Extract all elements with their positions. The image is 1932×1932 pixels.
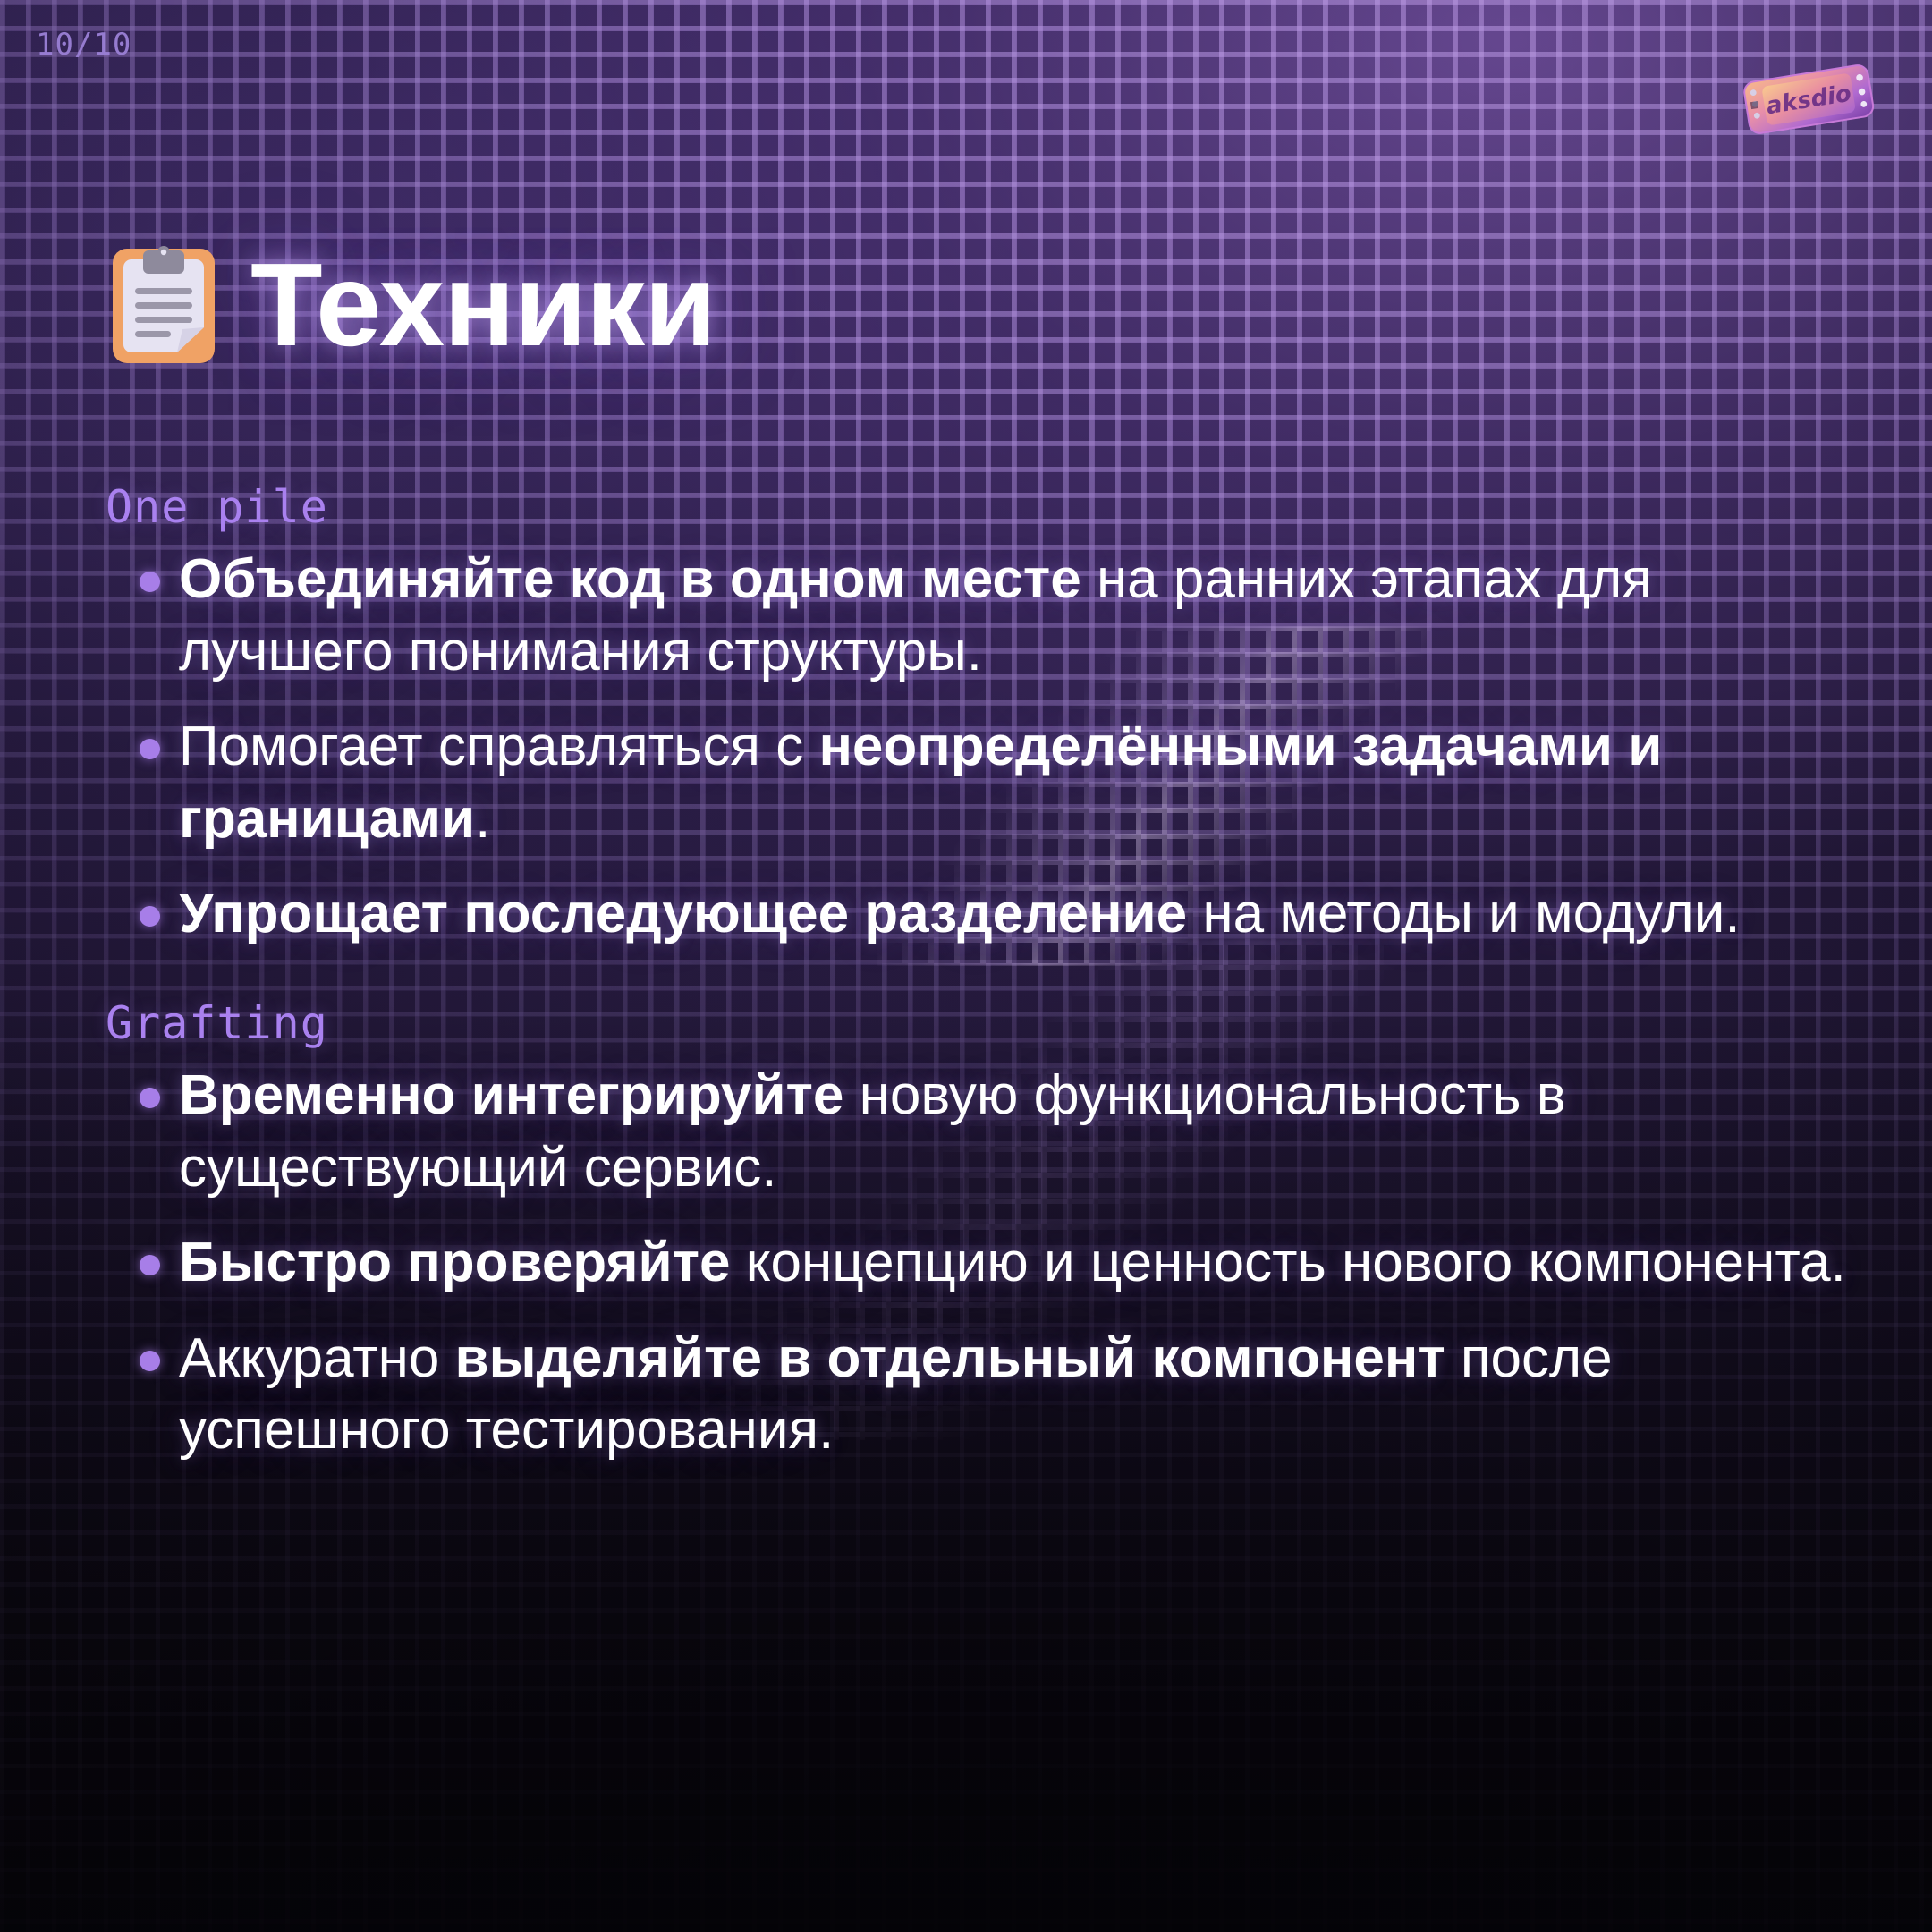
bullet-dot-icon	[140, 1088, 160, 1108]
slide: 10/10	[0, 0, 1932, 1932]
list-item: Быстро проверяйте концепцию и ценность н…	[106, 1227, 1859, 1300]
bullet-lead-text: Аккуратно	[179, 1327, 455, 1389]
bullet-bold-text: выделяйте в отдельный компонент	[455, 1327, 1445, 1389]
list-item: Объединяйте код в одном месте на ранних …	[106, 544, 1859, 688]
section-heading-one-pile: One pile	[106, 481, 1859, 533]
section-one-pile: One pile Объединяйте код в одном месте н…	[106, 481, 1859, 951]
content-area: One pile Объединяйте код в одном месте н…	[106, 481, 1859, 1490]
list-item: Временно интегрируйте новую функциональн…	[106, 1060, 1859, 1204]
bullet-regular-text: на методы и модули.	[1187, 883, 1740, 945]
bullet-dot-icon	[140, 906, 160, 927]
bullet-dot-icon	[140, 1351, 160, 1371]
page-header: Техники	[107, 241, 716, 369]
bullet-bold-text: Временно интегрируйте	[179, 1064, 843, 1126]
list-item: Упрощает последующее разделение на метод…	[106, 878, 1859, 951]
bullet-regular-text: концепцию и ценность нового компонента.	[731, 1232, 1846, 1293]
page-title: Техники	[250, 246, 716, 364]
section-grafting: Grafting Временно интегрируйте новую фун…	[106, 997, 1859, 1467]
bullet-dot-icon	[140, 1255, 160, 1275]
bullet-regular-text: .	[475, 788, 490, 850]
section-heading-grafting: Grafting	[106, 997, 1859, 1049]
bullet-dot-icon	[140, 739, 160, 759]
clipboard-icon	[107, 241, 220, 369]
bullet-bold-text: Объединяйте код в одном месте	[179, 548, 1081, 610]
bullet-dot-icon	[140, 572, 160, 592]
list-item: Аккуратно выделяйте в отдельный компонен…	[106, 1323, 1859, 1467]
bullet-list-one-pile: Объединяйте код в одном месте на ранних …	[106, 544, 1859, 951]
handheld-console-logo-icon: aksdio	[1737, 54, 1880, 143]
bullet-list-grafting: Временно интегрируйте новую функциональн…	[106, 1060, 1859, 1467]
bullet-bold-text: Упрощает последующее разделение	[179, 883, 1187, 945]
bullet-lead-text: Помогает справляться с	[179, 716, 818, 777]
list-item: Помогает справляться с неопределёнными з…	[106, 711, 1859, 855]
bullet-bold-text: Быстро проверяйте	[179, 1232, 731, 1293]
page-counter: 10/10	[36, 27, 131, 63]
